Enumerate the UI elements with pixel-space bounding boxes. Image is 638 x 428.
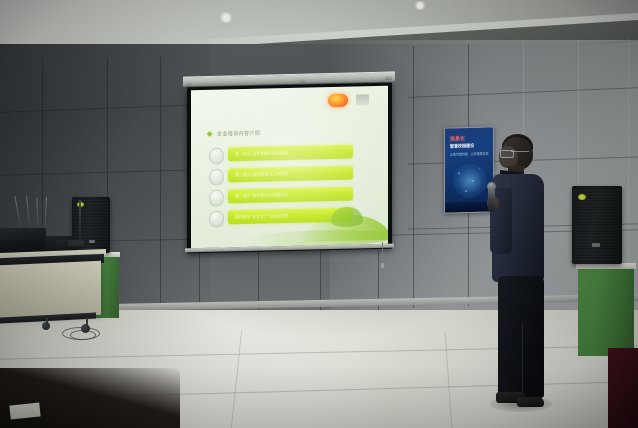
presenter-leg-seam — [522, 324, 523, 394]
poster-dot — [458, 172, 460, 174]
screen-housing-bracket — [385, 76, 392, 80]
team-icon — [209, 168, 224, 185]
handheld-microphone[interactable] — [488, 188, 495, 212]
eyeglasses-temple — [511, 151, 529, 152]
green-swoosh-graphic — [331, 206, 363, 227]
speaker-pedestal-right — [578, 268, 634, 356]
wall-seam — [413, 46, 414, 308]
target-icon — [209, 210, 224, 227]
slide-title-bullet: ◆ — [207, 130, 212, 138]
poster-glow-orb — [453, 163, 487, 198]
slide-title: 企业培训内容介绍 — [217, 130, 260, 138]
desk-caster-wheel — [42, 322, 50, 330]
wall-seam — [628, 38, 629, 288]
speaker-left-badge — [89, 240, 95, 243]
downlight-right — [414, 1, 426, 10]
audio-mixer-rack[interactable] — [0, 228, 46, 254]
screen-pull-cord — [382, 242, 383, 264]
slide-bullet-text: 第四部分 安全生产与应急处理 — [235, 213, 288, 220]
slide-bullet-text: 第二部分 岗位职责与工作规范 — [235, 171, 288, 178]
poster-headline: 智慧校园建设 — [450, 143, 474, 150]
speaker-right-badge — [592, 243, 600, 247]
speaker-brand-logo — [578, 194, 586, 200]
poster-dot — [472, 180, 474, 182]
dress-shoe — [517, 397, 544, 407]
projection-screen-surface[interactable]: ◆ 企业培训内容介绍 第一部分 企业发展与团队建设 第二部分 岗位职责与工作规范… — [191, 86, 388, 248]
maroon-cabinet-corner — [608, 348, 638, 428]
screen-housing-bracket — [186, 82, 192, 86]
foreground-shadow — [0, 368, 180, 428]
av-control-desk[interactable] — [0, 261, 101, 320]
speaker-right-grille — [575, 190, 619, 260]
mic-stand-pole — [79, 200, 81, 244]
growth-icon — [209, 189, 224, 206]
orange-round-logo — [328, 94, 348, 107]
mic-stand-base — [68, 240, 84, 246]
presenter-speaking[interactable] — [484, 134, 574, 418]
poster-subtitle: 让教育更智能 · 让管理更高效 — [450, 151, 489, 156]
downlight-center — [219, 12, 233, 23]
person-icon — [209, 147, 224, 164]
slide-bullet-text: 第一部分 企业发展与团队建设 — [235, 150, 288, 157]
wall-seam — [160, 57, 161, 307]
screen-housing-bracket — [300, 79, 305, 83]
gray-partner-logo — [356, 94, 369, 105]
presenter-trousers — [498, 276, 544, 398]
screen-pull-cord-knob[interactable] — [381, 263, 384, 268]
poster-dot — [479, 168, 480, 169]
floor-cable-coil — [70, 330, 96, 340]
slide-bullet-text: 第三部分 服务意识与沟通技巧 — [235, 192, 288, 199]
conference-room-photo: ◆ 企业培训内容介绍 第一部分 企业发展与团队建设 第二部分 岗位职责与工作规范… — [0, 0, 638, 428]
poster-headline-red: 信息化 — [450, 135, 465, 142]
poster-dot — [465, 190, 467, 192]
